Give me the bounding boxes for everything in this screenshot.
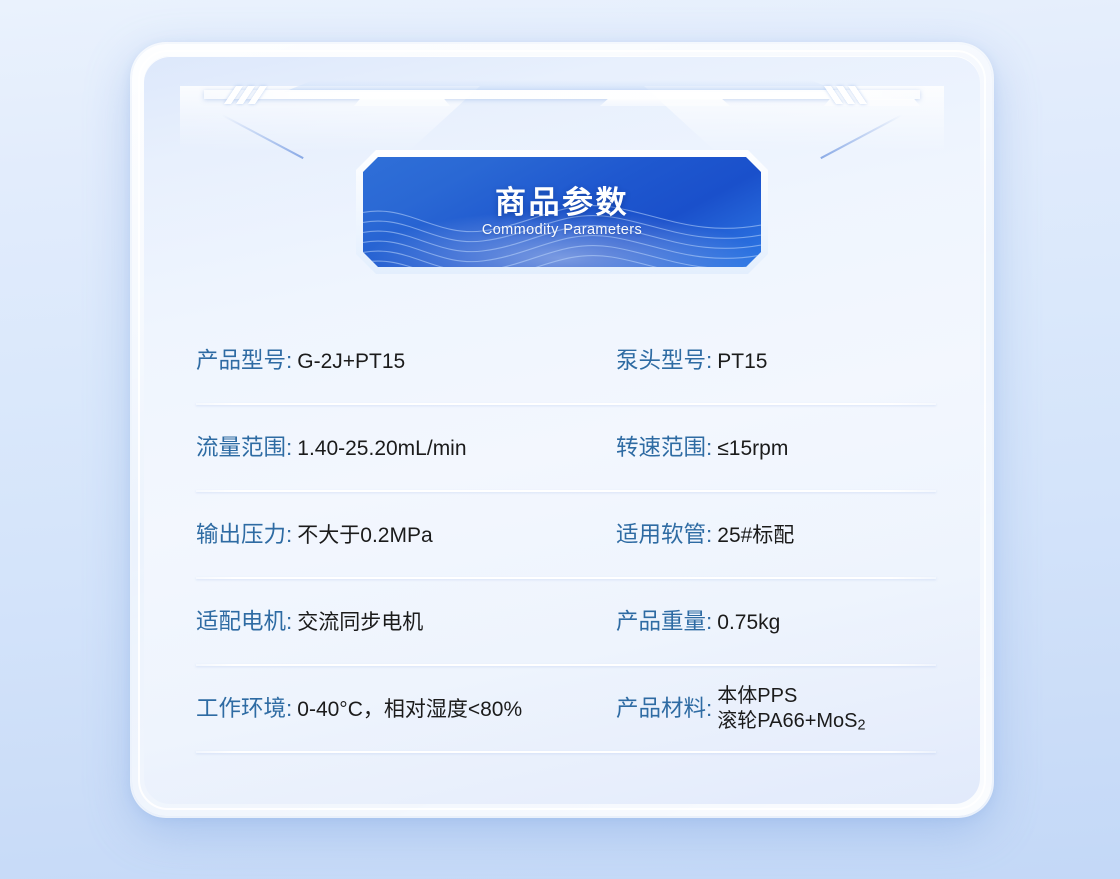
- spec-label: 输出压力:: [196, 521, 292, 549]
- spec-label: 产品材料:: [616, 695, 712, 723]
- spec-cell-speed-range: 转速范围: ≤15rpm: [616, 434, 958, 462]
- spec-row: 流量范围: 1.40-25.20mL/min 转速范围: ≤15rpm: [196, 405, 958, 492]
- spec-label: 产品型号:: [196, 347, 292, 375]
- spec-value-line-2: 滚轮PA66+MoS2: [717, 709, 865, 735]
- spec-row: 输出压力: 不大于0.2MPa 适用软管: 25#标配: [196, 492, 958, 579]
- spec-value: 0-40°C，相对湿度<80%: [297, 696, 522, 723]
- spec-cell-pump-head-model: 泵头型号: PT15: [616, 347, 958, 375]
- spec-label: 适用软管:: [616, 521, 712, 549]
- commodity-parameters-banner: 商品参数 Commodity Parameters: [356, 150, 768, 274]
- product-spec-card-frame: 商品参数 Commodity Parameters 产品型号: G-2J+PT1…: [118, 22, 1006, 822]
- spec-cell-working-environment: 工作环境: 0-40°C，相对湿度<80%: [196, 695, 616, 723]
- spec-cell-product-weight: 产品重量: 0.75kg: [616, 608, 958, 636]
- spec-label: 适配电机:: [196, 608, 292, 636]
- header-bar-line: [204, 90, 920, 99]
- spec-cell-product-model: 产品型号: G-2J+PT15: [196, 347, 616, 375]
- spec-label: 工作环境:: [196, 695, 292, 723]
- spec-value: 1.40-25.20mL/min: [297, 435, 466, 462]
- hash-marks-right-icon: [830, 86, 894, 104]
- spec-value: 不大于0.2MPa: [297, 522, 432, 549]
- spec-value: ≤15rpm: [717, 435, 788, 462]
- spec-cell-product-material: 产品材料: 本体PPS 滚轮PA66+MoS2: [616, 684, 958, 736]
- spec-value: G-2J+PT15: [297, 348, 405, 375]
- spec-cell-flow-range: 流量范围: 1.40-25.20mL/min: [196, 434, 616, 462]
- spec-value: PT15: [717, 348, 767, 375]
- banner-title: 商品参数: [495, 186, 629, 220]
- banner-subtitle: Commodity Parameters: [482, 222, 642, 238]
- spec-value-line-1: 本体PPS: [717, 684, 865, 710]
- spec-table: 产品型号: G-2J+PT15 泵头型号: PT15 流量范围: 1.40-25…: [196, 318, 958, 753]
- spec-row: 适配电机: 交流同步电机 产品重量: 0.75kg: [196, 579, 958, 666]
- spec-value-subscript: 2: [858, 718, 866, 734]
- spec-label: 转速范围:: [616, 434, 712, 462]
- spec-cell-output-pressure: 输出压力: 不大于0.2MPa: [196, 521, 616, 549]
- spec-row: 工作环境: 0-40°C，相对湿度<80% 产品材料: 本体PPS 滚轮PA66…: [196, 666, 958, 753]
- spec-value: 25#标配: [717, 522, 794, 549]
- spec-label: 产品重量:: [616, 608, 712, 636]
- header-bar-notch: [600, 99, 730, 106]
- spec-cell-applicable-hose: 适用软管: 25#标配: [616, 521, 958, 549]
- spec-value: 交流同步电机: [297, 609, 423, 636]
- spec-value-line-2-text: 滚轮PA66+MoS: [717, 710, 857, 732]
- spec-label: 泵头型号:: [616, 347, 712, 375]
- header-bar-notch: [354, 99, 450, 106]
- product-spec-card: 商品参数 Commodity Parameters 产品型号: G-2J+PT1…: [144, 56, 980, 804]
- tech-header-bar-decoration: [204, 80, 920, 110]
- spec-value: 0.75kg: [717, 609, 780, 636]
- spec-value: 本体PPS 滚轮PA66+MoS2: [717, 684, 865, 736]
- spec-cell-motor: 适配电机: 交流同步电机: [196, 608, 616, 636]
- spec-label: 流量范围:: [196, 434, 292, 462]
- hash-marks-left-icon: [230, 86, 294, 104]
- banner-face: 商品参数 Commodity Parameters: [363, 157, 761, 267]
- spec-row: 产品型号: G-2J+PT15 泵头型号: PT15: [196, 318, 958, 405]
